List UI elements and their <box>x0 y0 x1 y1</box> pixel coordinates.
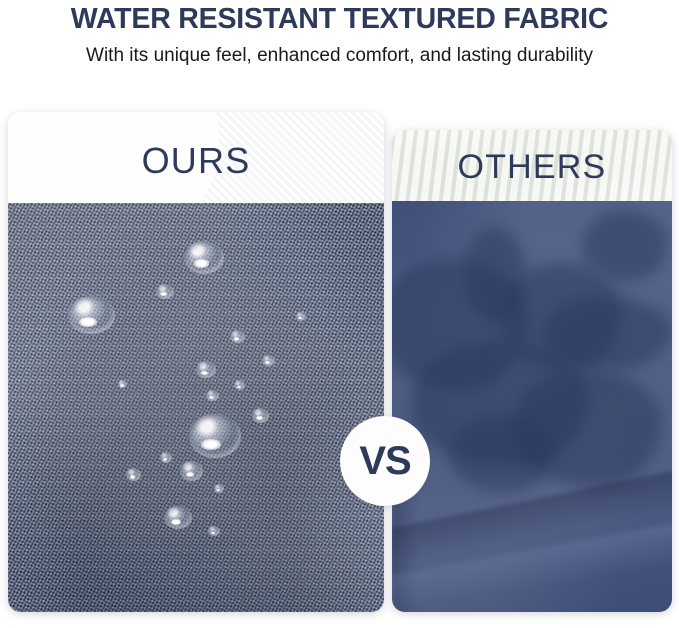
water-droplet <box>156 284 174 299</box>
panel-ours-label-band: OURS <box>8 112 384 203</box>
panel-others-label-band: OTHERS <box>392 130 672 201</box>
header: WATER RESISTANT TEXTURED FABRIC With its… <box>0 0 679 69</box>
water-droplet <box>262 355 275 366</box>
water-droplet <box>189 414 241 458</box>
vs-label: VS <box>359 441 410 481</box>
water-droplet <box>208 526 220 536</box>
comparison-section: OURS OTHERS <box>0 96 679 628</box>
water-droplet <box>230 330 245 343</box>
water-droplet <box>164 506 192 529</box>
water-droplet <box>252 408 269 423</box>
water-droplet <box>160 452 172 463</box>
panel-ours-label: OURS <box>142 140 251 182</box>
panel-others-label: OTHERS <box>458 148 607 187</box>
water-droplet <box>196 361 216 378</box>
page-subtitle: With its unique feel, enhanced comfort, … <box>0 43 679 69</box>
vs-badge: VS <box>340 416 430 506</box>
water-droplet <box>180 461 203 481</box>
water-stain <box>582 211 668 281</box>
water-droplet <box>214 484 224 493</box>
water-stain <box>450 415 554 493</box>
water-droplet <box>184 241 224 274</box>
panel-others: OTHERS <box>392 130 672 612</box>
water-droplet <box>68 296 115 334</box>
water-droplet <box>126 468 141 481</box>
water-droplet <box>296 312 306 321</box>
page-title: WATER RESISTANT TEXTURED FABRIC <box>0 2 679 36</box>
water-droplet <box>118 380 127 388</box>
water-droplet <box>206 390 219 401</box>
others-fabric-surface <box>392 201 672 612</box>
panel-ours: OURS <box>8 112 384 612</box>
water-droplet <box>234 380 245 390</box>
